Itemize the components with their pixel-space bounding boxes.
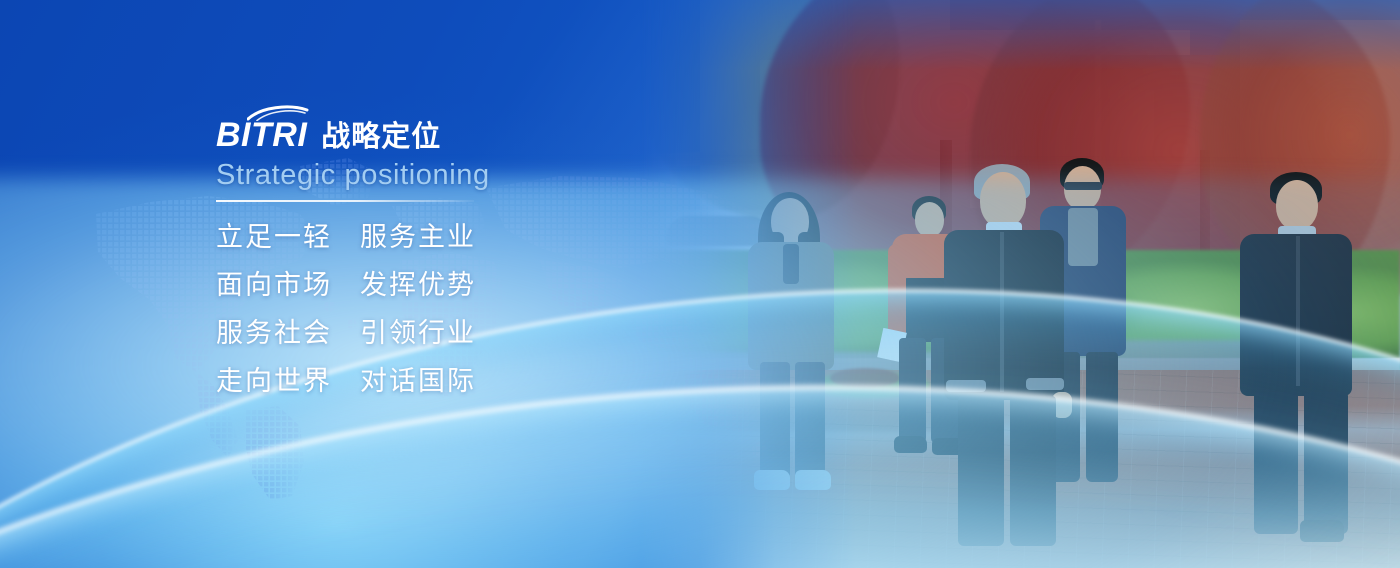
bitri-wordmark-text: BITRI: [216, 116, 307, 154]
slogan-list: 立足一轻 服务主业 面向市场 发挥优势 服务社会 引领行业 走向世界 对话国际: [216, 224, 636, 395]
hero-banner: BITRI 战略定位 Strategic positioning 立足一轻 服务…: [0, 0, 1400, 568]
logo-swoosh-icon: [247, 105, 309, 121]
slogan-row: 走向世界 对话国际: [216, 368, 636, 395]
slogan-left: 服务社会: [216, 320, 332, 347]
slogan-row: 服务社会 引领行业: [216, 320, 636, 347]
slogan-right: 发挥优势: [360, 272, 476, 299]
slogan-row: 面向市场 发挥优势: [216, 272, 636, 299]
divider-rule: [216, 200, 474, 202]
brand-title-cn: 战略定位: [321, 122, 441, 152]
bitri-wordmark: BITRI: [216, 118, 307, 152]
slogan-right: 服务主业: [360, 224, 476, 251]
logo-row: BITRI 战略定位: [216, 108, 636, 152]
horizon-glow: [0, 178, 1400, 568]
slogan-left: 面向市场: [216, 272, 332, 299]
photo-top-fade: [640, 0, 1400, 70]
slogan-left: 走向世界: [216, 368, 332, 395]
banner-content: BITRI 战略定位 Strategic positioning 立足一轻 服务…: [216, 108, 636, 395]
slogan-right: 对话国际: [360, 368, 476, 395]
slogan-left: 立足一轻: [216, 224, 332, 251]
brand-subtitle-en: Strategic positioning: [216, 160, 636, 192]
slogan-row: 立足一轻 服务主业: [216, 224, 636, 251]
slogan-right: 引领行业: [360, 320, 476, 347]
